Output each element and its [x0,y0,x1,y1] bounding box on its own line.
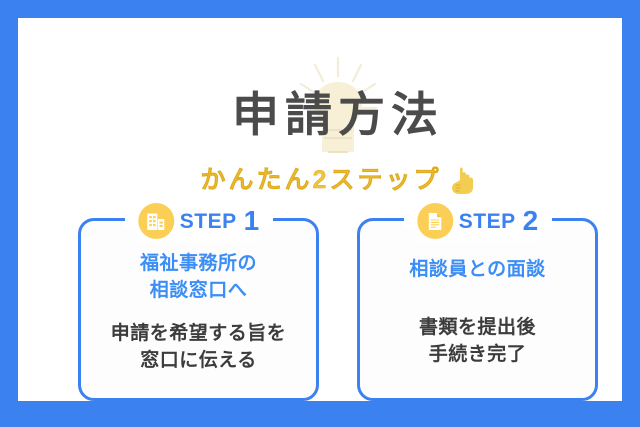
step-card-1: STEP 1 福祉事務所の 相談窓口へ 申請を希望する旨を 窓口に伝える [78,218,319,401]
infographic-root: 申請方法 かんたん2ステップ [0,0,640,427]
steps-container: STEP 1 福祉事務所の 相談窓口へ 申請を希望する旨を 窓口に伝える [18,218,640,401]
step-body-2: 相談員との面談 書類を提出後 手続き完了 [360,257,595,369]
step-text-2: 書類を提出後 手続き完了 [366,315,589,369]
step-heading-2: 相談員との面談 [366,257,589,284]
subtitle-text: かんたん2ステップ [201,168,442,193]
step-badge-2: STEP 2 [415,201,540,241]
building-icon [138,203,174,239]
content-canvas: 申請方法 かんたん2ステップ [18,18,622,401]
step-number-2: 2 [523,207,539,235]
step-badge-1: STEP 1 [136,201,261,241]
step-label-2: STEP [459,211,516,232]
step-card-2: STEP 2 相談員との面談 書類を提出後 手続き完了 [357,218,598,401]
step-heading-1: 福祉事務所の 相談窓口へ [87,251,310,305]
step-label-1: STEP [180,211,237,232]
subtitle-row: かんたん2ステップ [18,165,640,195]
step-number-1: 1 [244,207,260,235]
step-body-1: 福祉事務所の 相談窓口へ 申請を希望する旨を 窓口に伝える [81,251,316,375]
document-icon [417,203,453,239]
point-up-hand-icon [449,165,475,195]
page-title: 申請方法 [18,91,640,138]
step-text-1: 申請を希望する旨を 窓口に伝える [87,321,310,375]
